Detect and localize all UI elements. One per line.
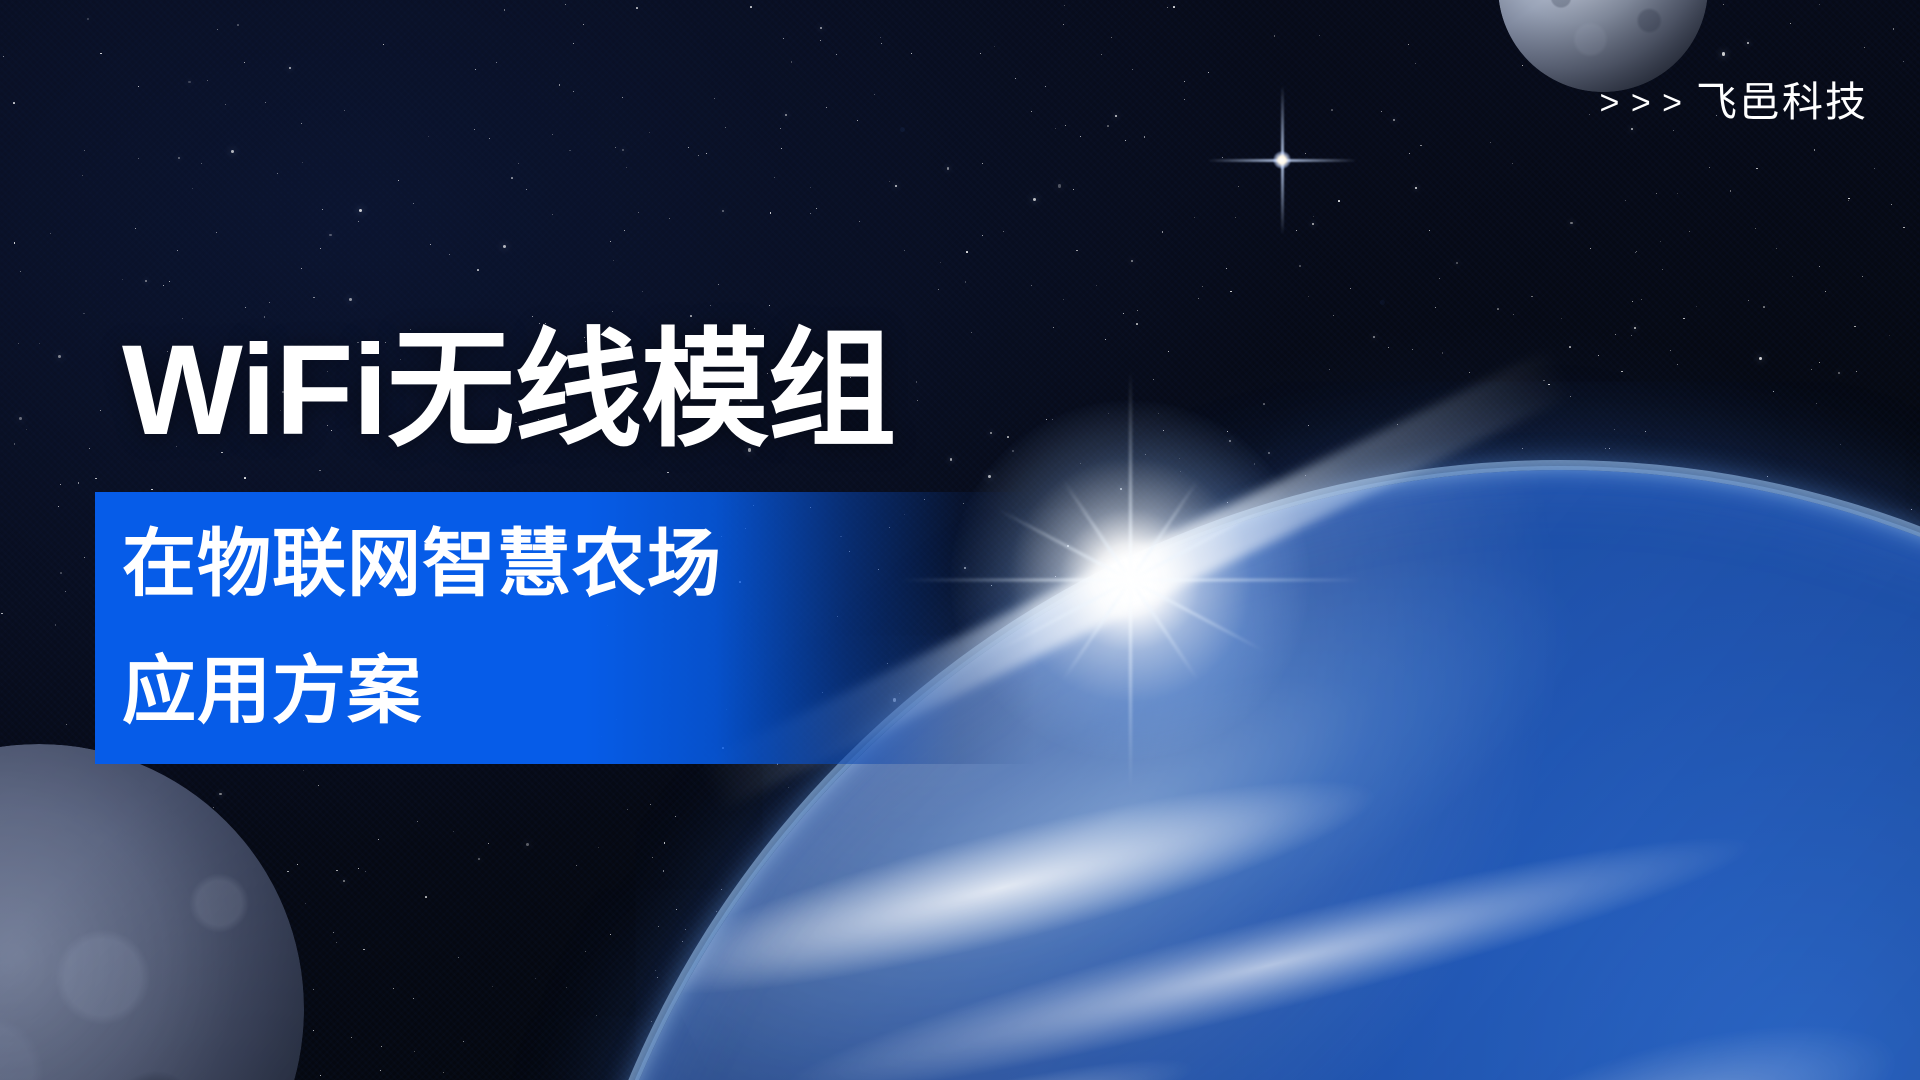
- brand-name: 飞邑科技: [1696, 82, 1868, 123]
- brand-logo: > > > 飞邑科技: [1600, 82, 1868, 123]
- brand-chevrons-icon: > > >: [1600, 86, 1683, 120]
- poster-content: > > > 飞邑科技 WiFi无线模组 在物联网智慧农场 应用方案: [0, 0, 1920, 1080]
- subtitle-text: 在物联网智慧农场 应用方案: [122, 500, 1022, 755]
- subtitle-line-2: 应用方案: [122, 627, 1022, 754]
- poster-canvas: > > > 飞邑科技 WiFi无线模组 在物联网智慧农场 应用方案: [0, 0, 1920, 1080]
- subtitle-line-1: 在物联网智慧农场: [122, 500, 1022, 627]
- page-title: WiFi无线模组: [122, 324, 895, 458]
